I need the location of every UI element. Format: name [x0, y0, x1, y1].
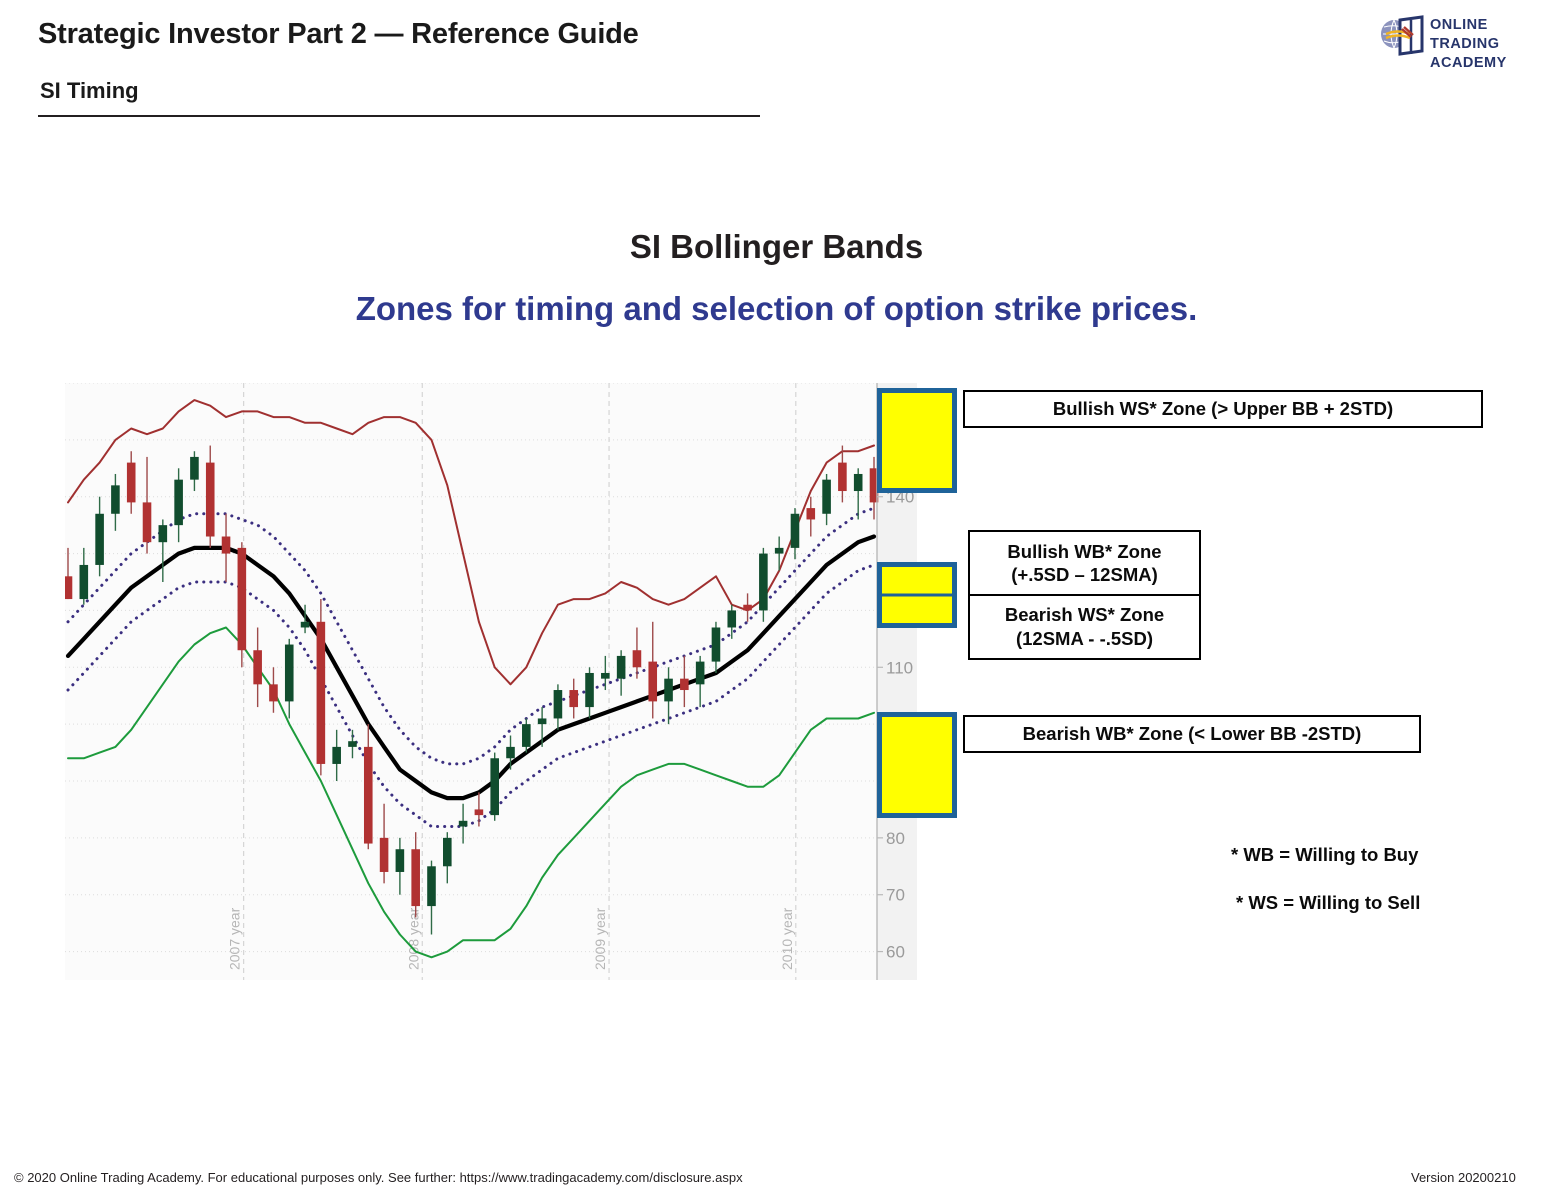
- callout-bullish-ws-zone: Bullish WS* Zone (> Upper BB + 2STD): [963, 390, 1483, 428]
- zone-swatch-bearish-wb: [877, 712, 957, 818]
- callout-bullish-wb-line-2: (+.5SD – 12SMA): [1007, 563, 1161, 586]
- header-divider: [38, 115, 760, 117]
- chart-subheading: Zones for timing and selection of option…: [0, 290, 1553, 328]
- page-title: Strategic Investor Part 2 — Reference Gu…: [38, 18, 639, 51]
- note-wb-definition: * WB = Willing to Buy: [1231, 844, 1418, 866]
- note-ws-definition: * WS = Willing to Sell: [1236, 892, 1420, 914]
- callout-bullish-wb-line-1: Bullish WB* Zone: [1007, 540, 1161, 563]
- svg-text:70: 70: [886, 886, 905, 905]
- logo-line-1: ONLINE TRADING: [1430, 16, 1536, 54]
- svg-text:110: 110: [886, 658, 913, 677]
- callout-bearish-ws-line-1: Bearish WS* Zone: [1005, 603, 1164, 626]
- svg-text:80: 80: [886, 829, 905, 848]
- online-trading-academy-logo: ONLINE TRADING ACADEMY: [1378, 14, 1536, 62]
- svg-text:60: 60: [886, 943, 905, 962]
- footer-version: Version 20200210: [1411, 1170, 1516, 1185]
- callout-stack: Bullish WB* Zone (+.5SD – 12SMA) Bearish…: [968, 530, 1201, 662]
- chart-heading: SI Bollinger Bands: [0, 228, 1553, 266]
- callout-bullish-wb-zone: Bullish WB* Zone (+.5SD – 12SMA): [968, 530, 1201, 596]
- plot-background: [65, 383, 877, 980]
- zone-swatch-bullish-ws: [877, 388, 957, 493]
- chart-canvas: 2007 year2008 year2009 year2010 year 140…: [65, 383, 917, 980]
- svg-text:2008 year: 2008 year: [405, 907, 421, 970]
- slide-header: Strategic Investor Part 2 — Reference Gu…: [0, 0, 1553, 130]
- svg-text:2007 year: 2007 year: [227, 907, 243, 970]
- logo-globe-book-icon: [1378, 14, 1428, 60]
- page-subtitle: SI Timing: [40, 78, 139, 104]
- zone-swatch-middle-pair: [877, 562, 957, 628]
- logo-wordmark: ONLINE TRADING ACADEMY: [1430, 16, 1536, 73]
- svg-text:2010 year: 2010 year: [779, 907, 795, 970]
- svg-text:2009 year: 2009 year: [592, 907, 608, 970]
- callout-bearish-wb-zone: Bearish WB* Zone (< Lower BB -2STD): [963, 715, 1421, 753]
- bollinger-band-chart: 2007 year2008 year2009 year2010 year 140…: [65, 383, 917, 980]
- footer-copyright: © 2020 Online Trading Academy. For educa…: [14, 1170, 743, 1185]
- callout-bearish-ws-zone: Bearish WS* Zone (12SMA - -.5SD): [968, 594, 1201, 660]
- callout-bearish-ws-line-2: (12SMA - -.5SD): [1005, 627, 1164, 650]
- logo-line-2: ACADEMY: [1430, 54, 1536, 73]
